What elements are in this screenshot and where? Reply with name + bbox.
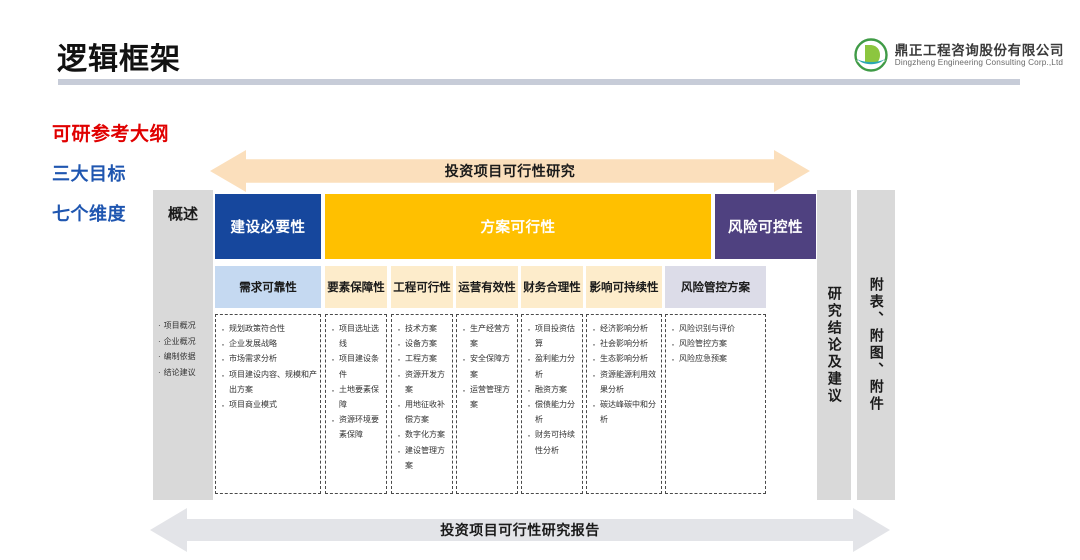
annex-column-label: 附表、附图、附件: [868, 277, 883, 413]
annex-column-inner: 附表、附图、附件: [857, 190, 895, 500]
overview-list-item-label: 企业概况: [164, 337, 196, 346]
dimension-item: 项目选址选线: [330, 321, 383, 351]
dimension-item: 土地要素保障: [330, 382, 383, 412]
dimension-item: 碳达峰碳中和分析: [591, 397, 658, 427]
dimension-item: 风险应急预案: [670, 351, 762, 366]
dimension-detail-box: 技术方案设备方案工程方案资源开发方案用地征收补偿方案数字化方案建设管理方案: [391, 314, 453, 494]
logo-name-en: Dingzheng Engineering Consulting Corp.,L…: [895, 58, 1064, 67]
dimension-item: 盈利能力分析: [526, 351, 579, 381]
dimension-item: 企业发展战略: [220, 336, 317, 351]
conclusion-column-inner: 研究结论及建议: [817, 190, 851, 500]
caption-goals: 三大目标: [52, 160, 126, 186]
dimension-detail-box: 项目选址选线项目建设条件土地要素保障资源环境要素保障: [325, 314, 387, 494]
dimension-item: 资源能源利用效果分析: [591, 367, 658, 397]
dimension-item: 资源开发方案: [396, 367, 449, 397]
page-title: 逻辑框架: [57, 34, 181, 78]
top-arrow-label: 投资项目可行性研究: [210, 150, 810, 192]
dimension-subheader: 财务合理性: [521, 266, 583, 308]
title-divider: [58, 79, 1020, 85]
dimension-item-list: 经济影响分析社会影响分析生态影响分析资源能源利用效果分析碳达峰碳中和分析: [591, 321, 658, 427]
dimension-item: 经济影响分析: [591, 321, 658, 336]
company-logo: 鼎正工程咨询股份有限公司 Dingzheng Engineering Consu…: [854, 38, 1064, 72]
dimension-item: 建设管理方案: [396, 443, 449, 473]
overview-list-item-label: 编制依据: [164, 352, 196, 361]
dimension-subheader: 需求可靠性: [215, 266, 321, 308]
dimension-item: 财务可持续性分析: [526, 427, 579, 457]
dimension-subheader: 影响可持续性: [586, 266, 662, 308]
bullet-icon: ·: [158, 368, 161, 377]
top-arrow-banner: 投资项目可行性研究: [210, 150, 810, 192]
bullet-icon: ·: [158, 337, 161, 346]
bottom-arrow-label: 投资项目可行性研究报告: [150, 508, 890, 552]
overview-column-list: ·项目概况·企业概况·编制依据·结论建议: [158, 318, 211, 380]
overview-column-title: 概述: [153, 206, 213, 225]
dimension-item: 安全保障方案: [461, 351, 514, 381]
dimension-item: 风险管控方案: [670, 336, 762, 351]
dimension-item: 技术方案: [396, 321, 449, 336]
overview-column: 概述 ·项目概况·企业概况·编制依据·结论建议: [153, 190, 213, 500]
dimension-detail-box: 风险识别与评价风险管控方案风险应急预案: [665, 314, 766, 494]
dimension-item-list: 规划政策符合性企业发展战略市场需求分析项目建设内容、规模和产出方案项目商业模式: [220, 321, 317, 412]
bottom-arrow-banner: 投资项目可行性研究报告: [150, 508, 890, 552]
overview-list-item: ·项目概况: [158, 318, 211, 334]
bullet-icon: ·: [158, 352, 161, 361]
dimension-subheader: 运营有效性: [456, 266, 518, 308]
dimension-subheader: 工程可行性: [391, 266, 453, 308]
dimension-subheader: 要素保障性: [325, 266, 387, 308]
dimension-item: 风险识别与评价: [670, 321, 762, 336]
dimension-item: 项目投资估算: [526, 321, 579, 351]
dimension-subheader: 风险管控方案: [665, 266, 766, 308]
dimension-item: 规划政策符合性: [220, 321, 317, 336]
dimension-item-list: 生产经营方案安全保障方案运营管理方案: [461, 321, 514, 412]
dimension-item-list: 风险识别与评价风险管控方案风险应急预案: [670, 321, 762, 367]
conclusion-column-label: 研究结论及建议: [826, 286, 841, 405]
dimension-item: 设备方案: [396, 336, 449, 351]
dimension-item: 项目商业模式: [220, 397, 317, 412]
dimension-item: 社会影响分析: [591, 336, 658, 351]
caption-outline: 可研参考大纲: [52, 119, 169, 146]
framework-matrix: 概述 ·项目概况·企业概况·编制依据·结论建议 建设必要性 方案可行性 风险可控…: [153, 190, 925, 500]
dimension-item-list: 项目投资估算盈利能力分析融资方案偿债能力分析财务可持续性分析: [526, 321, 579, 458]
dimension-item: 生产经营方案: [461, 321, 514, 351]
conclusion-column: 研究结论及建议: [817, 190, 851, 500]
banner-risk-controllability: 风险可控性: [715, 194, 816, 259]
dimension-item: 项目建设条件: [330, 351, 383, 381]
logo-name-cn: 鼎正工程咨询股份有限公司: [895, 43, 1064, 58]
caption-dimensions: 七个维度: [52, 200, 126, 226]
annex-column: 附表、附图、附件: [857, 190, 895, 500]
overview-list-item: ·编制依据: [158, 349, 211, 365]
dimension-item: 用地征收补偿方案: [396, 397, 449, 427]
overview-list-item: ·企业概况: [158, 334, 211, 350]
logo-text: 鼎正工程咨询股份有限公司 Dingzheng Engineering Consu…: [895, 43, 1064, 67]
dimension-item: 运营管理方案: [461, 382, 514, 412]
dimension-item: 工程方案: [396, 351, 449, 366]
dimension-item: 资源环境要素保障: [330, 412, 383, 442]
dimension-item: 偿债能力分析: [526, 397, 579, 427]
overview-list-item-label: 项目概况: [164, 321, 196, 330]
bullet-icon: ·: [158, 321, 161, 330]
overview-list-item-label: 结论建议: [164, 368, 196, 377]
dimension-item: 生态影响分析: [591, 351, 658, 366]
banner-scheme-feasibility: 方案可行性: [325, 194, 711, 259]
dimension-item: 市场需求分析: [220, 351, 317, 366]
dimension-detail-box: 项目投资估算盈利能力分析融资方案偿债能力分析财务可持续性分析: [521, 314, 583, 494]
banner-construction-necessity: 建设必要性: [215, 194, 321, 259]
overview-list-item: ·结论建议: [158, 365, 211, 381]
dingzheng-logo-icon: [854, 38, 888, 72]
dimension-item: 融资方案: [526, 382, 579, 397]
dimension-detail-box: 规划政策符合性企业发展战略市场需求分析项目建设内容、规模和产出方案项目商业模式: [215, 314, 321, 494]
dimension-detail-box: 经济影响分析社会影响分析生态影响分析资源能源利用效果分析碳达峰碳中和分析: [586, 314, 662, 494]
dimension-item: 项目建设内容、规模和产出方案: [220, 367, 317, 397]
dimension-item-list: 技术方案设备方案工程方案资源开发方案用地征收补偿方案数字化方案建设管理方案: [396, 321, 449, 473]
dimension-item: 数字化方案: [396, 427, 449, 442]
dimension-item-list: 项目选址选线项目建设条件土地要素保障资源环境要素保障: [330, 321, 383, 443]
dimension-detail-box: 生产经营方案安全保障方案运营管理方案: [456, 314, 518, 494]
